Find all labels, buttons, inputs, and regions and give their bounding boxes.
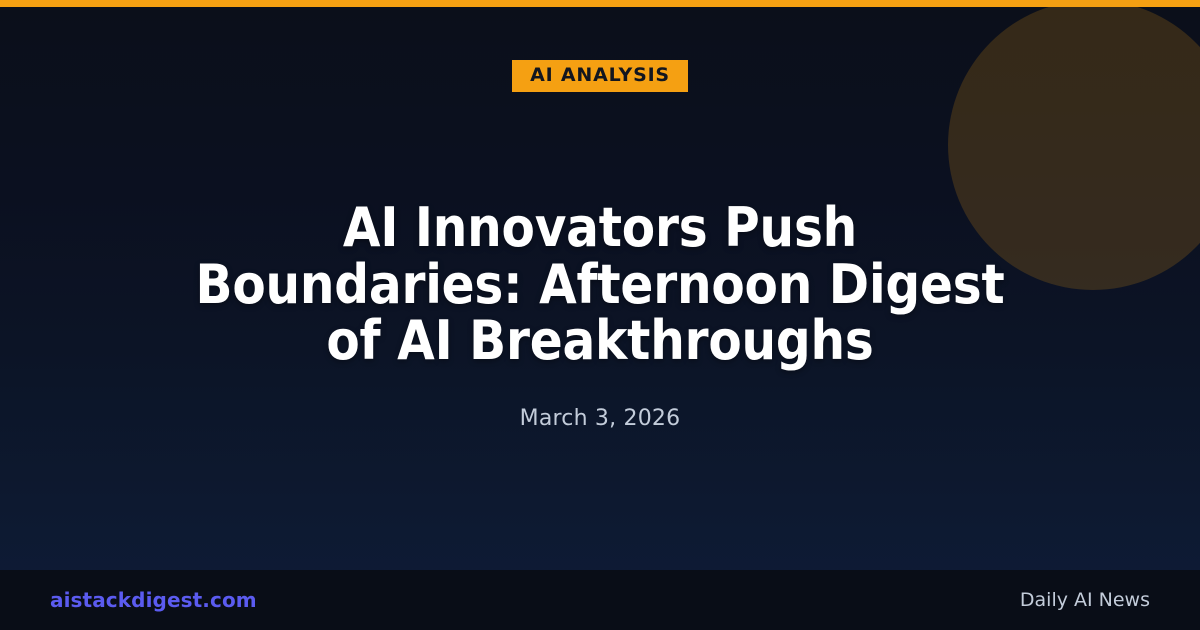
category-badge: AI ANALYSIS [512,60,688,92]
top-accent-bar [0,0,1200,7]
social-share-card: AI ANALYSIS AI Innovators Push Boundarie… [0,0,1200,630]
publish-date: March 3, 2026 [520,406,681,431]
card-footer: aistackdigest.com Daily AI News [0,570,1200,630]
card-content: AI ANALYSIS AI Innovators Push Boundarie… [0,0,1200,570]
headline-title: AI Innovators Push Boundaries: Afternoon… [90,200,1110,370]
footer-tagline: Daily AI News [1020,589,1150,611]
footer-site-url[interactable]: aistackdigest.com [50,588,257,612]
